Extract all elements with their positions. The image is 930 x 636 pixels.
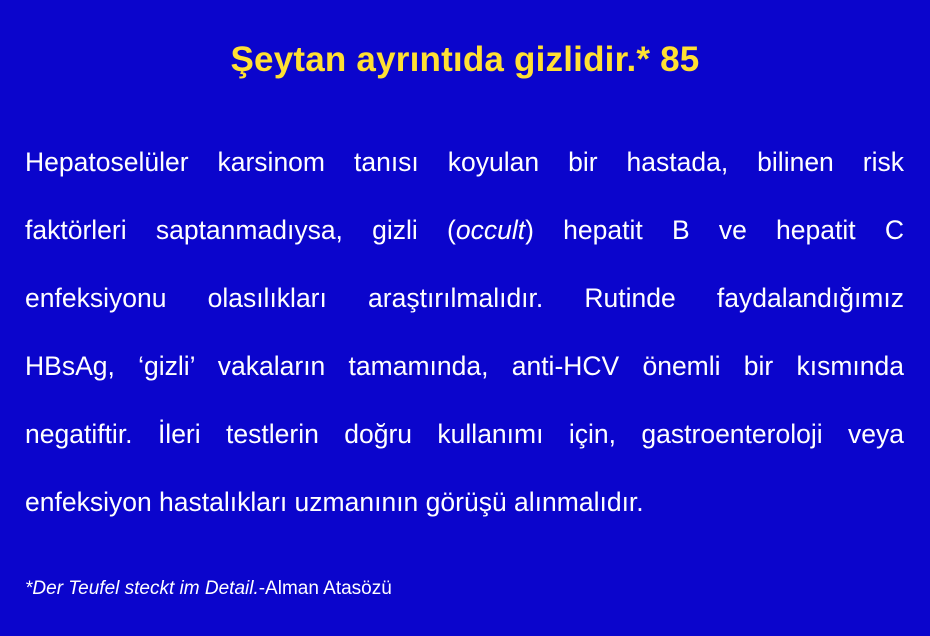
body-line-2-prefix: faktörleri saptanmadıysa, gizli ( (25, 215, 456, 245)
body-line-1: Hepatoselüler karsinom tanısı koyulan bi… (25, 128, 904, 196)
page-title: Şeytan ayrıntıda gizlidir.* 85 (0, 40, 930, 80)
body-line-2: faktörleri saptanmadıysa, gizli (occult)… (25, 196, 904, 264)
body-line-5: negatiftir. İleri testlerin doğru kullan… (25, 400, 904, 468)
footnote: *Der Teufel steckt im Detail.-Alman Atas… (25, 578, 392, 600)
body-line-3: enfeksiyonu olasılıkları araştırılmalıdı… (25, 264, 904, 332)
body-line-2-italic-term: occult (456, 215, 525, 245)
body-line-6: enfeksiyon hastalıkları uzmanının görüşü… (25, 468, 904, 536)
slide-canvas: Şeytan ayrıntıda gizlidir.* 85 Hepatosel… (0, 0, 930, 636)
body-text-block: Hepatoselüler karsinom tanısı koyulan bi… (25, 128, 904, 536)
body-line-2-suffix: ) hepatit B ve hepatit C (525, 215, 904, 245)
footnote-attribution: -Alman Atasözü (259, 578, 392, 599)
body-line-4: HBsAg, ‘gizli’ vakaların tamamında, anti… (25, 332, 904, 400)
footnote-italic-text: Der Teufel steckt im Detail. (32, 578, 258, 599)
